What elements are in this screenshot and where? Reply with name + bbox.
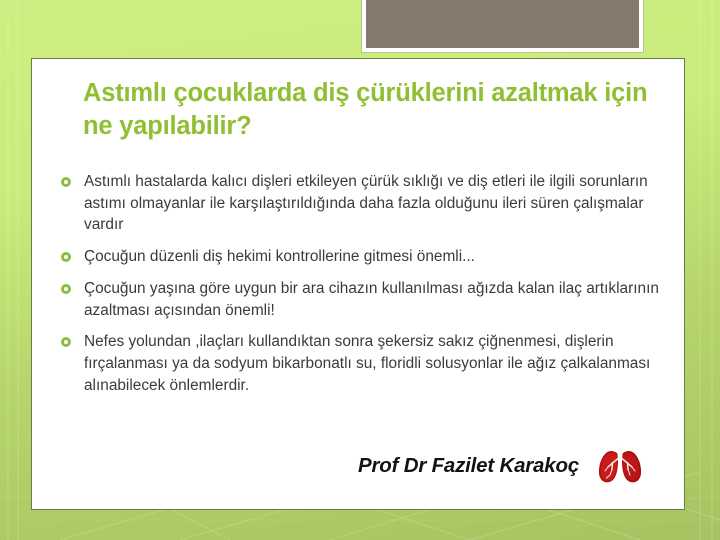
list-item-text: Nefes yolundan ,ilaçları kullandıktan so… [84,333,650,393]
footer-signature-row: Prof Dr Fazilet Karakoç [32,445,686,487]
bullet-list: Astımlı hastalarda kalıcı dişleri etkile… [57,171,673,406]
presentation-slide: Astımlı çocuklarda diş çürüklerini azalt… [0,0,720,540]
list-item-text: Çocuğun düzenli diş hekimi kontrollerine… [84,248,475,265]
list-item: Astımlı hastalarda kalıcı dişleri etkile… [57,171,673,236]
lungs-icon [597,445,643,487]
bullet-circle-icon [61,252,71,262]
list-item: Çocuğun düzenli diş hekimi kontrollerine… [57,246,673,268]
slide-title: Astımlı çocuklarda diş çürüklerini azalt… [83,77,663,142]
list-item-text: Çocuğun yaşına göre uygun bir ara cihazı… [84,280,659,319]
list-item: Çocuğun yaşına göre uygun bir ara cihazı… [57,278,673,321]
content-panel: Astımlı çocuklarda diş çürüklerini azalt… [31,58,685,510]
presenter-name: Prof Dr Fazilet Karakoç [358,454,579,478]
bullet-circle-icon [61,284,71,294]
header-image-placeholder [362,0,643,52]
list-item: Nefes yolundan ,ilaçları kullandıktan so… [57,331,673,396]
list-item-text: Astımlı hastalarda kalıcı dişleri etkile… [84,173,648,233]
bullet-circle-icon [61,177,71,187]
bullet-circle-icon [61,337,71,347]
